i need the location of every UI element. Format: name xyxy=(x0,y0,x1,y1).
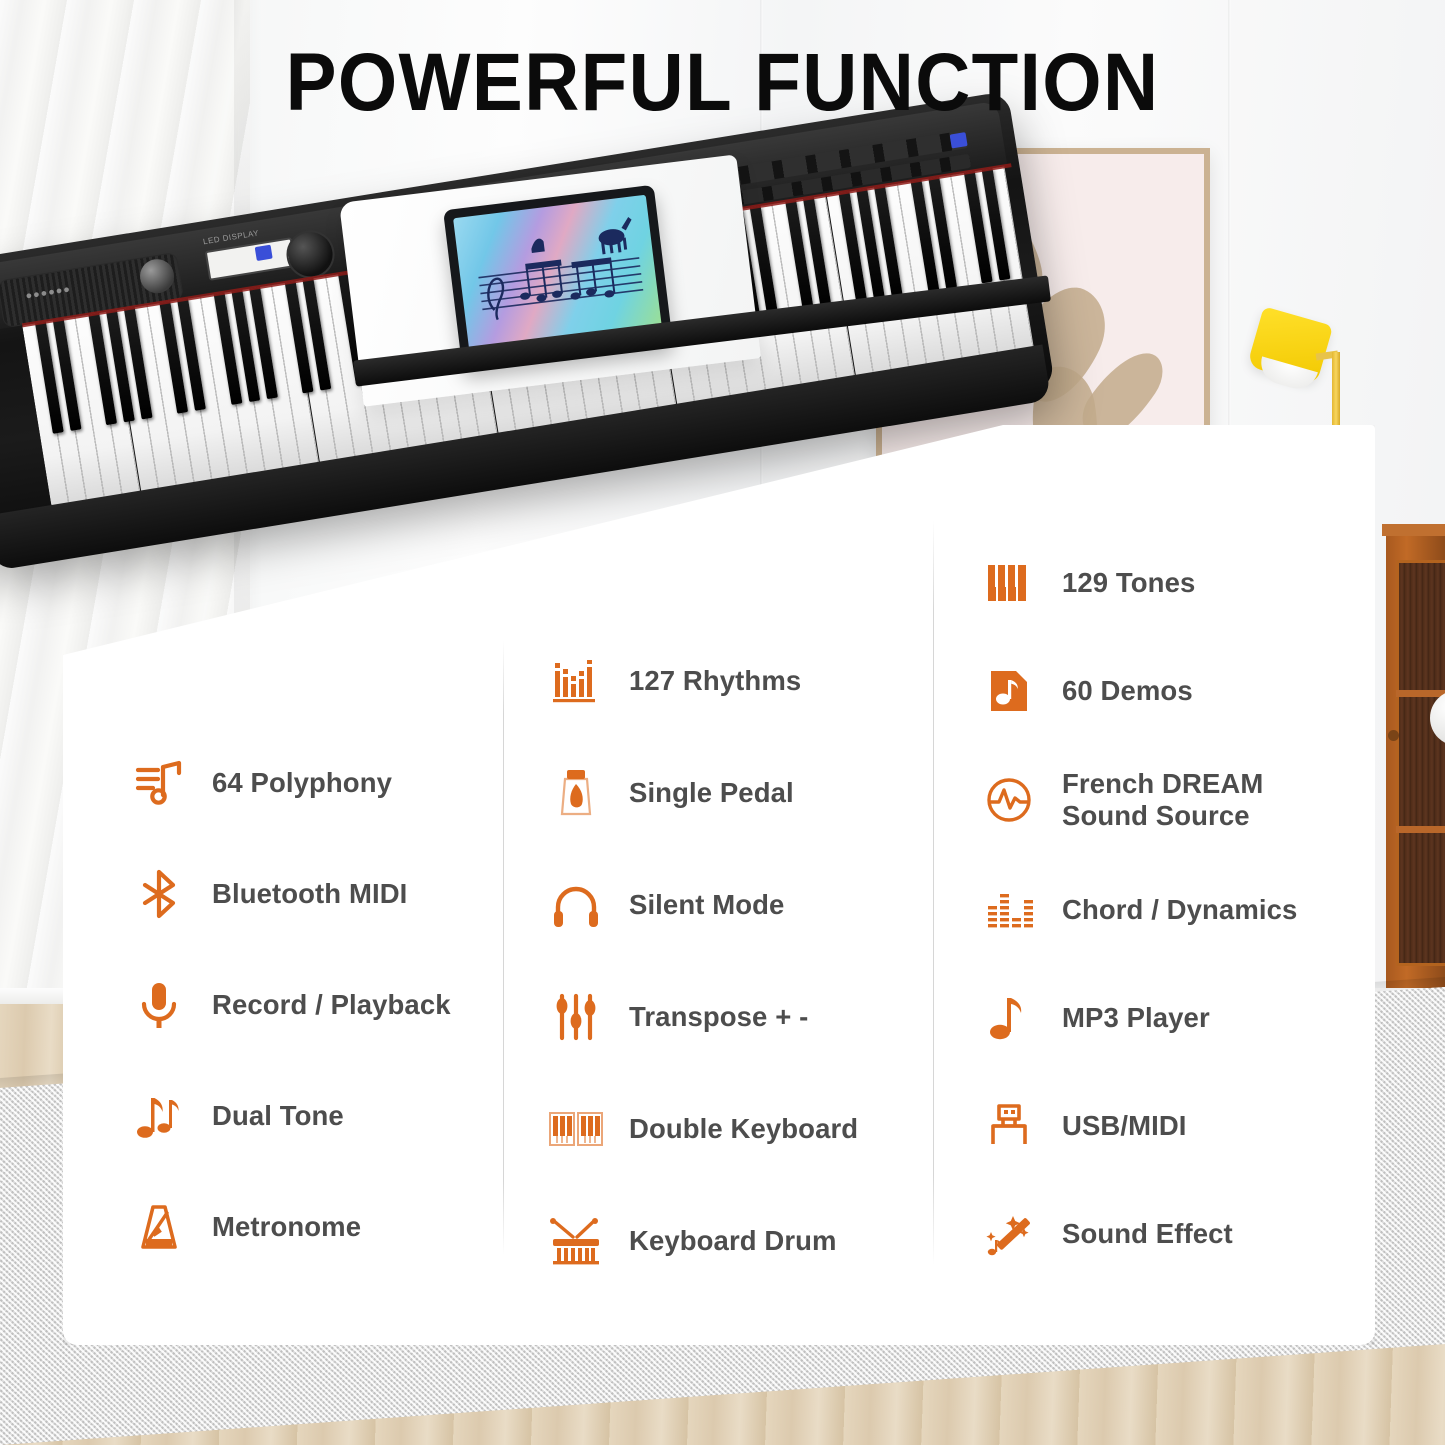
feature-item: 64 Polyphony xyxy=(128,752,498,814)
feature-label: Dual Tone xyxy=(212,1100,344,1132)
sliders-icon xyxy=(545,986,607,1048)
cabinet-glass-door xyxy=(1396,560,1445,966)
feature-column-1: 64 Polyphony Bluetooth MIDI Record / Pla… xyxy=(128,752,498,1307)
equalizer-bars-icon xyxy=(545,650,607,712)
chord-equalizer-icon xyxy=(978,879,1040,941)
feature-item: Single Pedal xyxy=(545,762,935,824)
feature-label: Sound Effect xyxy=(1062,1218,1233,1250)
feature-label: Transpose + - xyxy=(629,1001,808,1033)
metronome-icon xyxy=(128,1196,190,1258)
feature-item: 127 Rhythms xyxy=(545,650,935,712)
feature-item: Sound Effect xyxy=(978,1203,1378,1265)
feature-label: Silent Mode xyxy=(629,889,784,921)
feature-item: Silent Mode xyxy=(545,874,935,936)
headphones-icon xyxy=(545,874,607,936)
feature-item: MP3 Player xyxy=(978,987,1378,1049)
feature-label: Bluetooth MIDI xyxy=(212,878,407,910)
feature-column-3: 129 Tones 60 Demos xyxy=(978,552,1378,1311)
feature-item: Transpose + - xyxy=(545,986,935,1048)
function-button xyxy=(950,132,968,148)
double-note-icon xyxy=(128,1085,190,1147)
cabinet-shelf xyxy=(1396,826,1445,833)
sustain-pedal-icon xyxy=(545,762,607,824)
feature-item: USB/MIDI xyxy=(978,1095,1378,1157)
feature-item: Dual Tone xyxy=(128,1085,498,1147)
feature-label: Record / Playback xyxy=(212,989,451,1021)
page-title: POWERFUL FUNCTION xyxy=(51,36,1395,130)
cabinet-top xyxy=(1382,524,1445,536)
feature-item: 60 Demos xyxy=(978,660,1378,722)
feature-label: 60 Demos xyxy=(1062,675,1193,707)
feature-label: Single Pedal xyxy=(629,777,794,809)
cabinet-shelf xyxy=(1396,690,1445,697)
feature-item: Bluetooth MIDI xyxy=(128,863,498,925)
magic-wand-icon xyxy=(978,1203,1040,1265)
waveform-circle-icon xyxy=(978,769,1040,831)
feature-label: Keyboard Drum xyxy=(629,1225,837,1257)
feature-label: Double Keyboard xyxy=(629,1113,858,1145)
microphone-icon xyxy=(128,974,190,1036)
feature-label: USB/MIDI xyxy=(1062,1110,1187,1142)
feature-item: Keyboard Drum xyxy=(545,1210,935,1272)
column-divider xyxy=(503,640,504,1255)
music-file-icon xyxy=(978,660,1040,722)
feature-label: French DREAM Sound Source xyxy=(1062,768,1263,833)
bluetooth-icon xyxy=(128,863,190,925)
feature-item: Double Keyboard xyxy=(545,1098,935,1160)
feature-label: Metronome xyxy=(212,1211,361,1243)
feature-label: 127 Rhythms xyxy=(629,665,801,697)
piano-keys-icon xyxy=(978,552,1040,614)
usb-plug-icon xyxy=(978,1095,1040,1157)
cabinet-knob xyxy=(1388,730,1399,741)
double-keyboard-icon xyxy=(545,1098,607,1160)
feature-label: 64 Polyphony xyxy=(212,767,392,799)
polyphony-note-icon xyxy=(128,752,190,814)
feature-column-2: 127 Rhythms Single Pedal Silent Mode xyxy=(545,650,935,1322)
scene-root: ●●●●●● LED DISPLAY xyxy=(0,0,1445,1445)
eighth-note-icon xyxy=(978,987,1040,1049)
feature-label: Chord / Dynamics xyxy=(1062,894,1297,926)
feature-item: 129 Tones xyxy=(978,552,1378,614)
feature-item: Metronome xyxy=(128,1196,498,1258)
feature-label: 129 Tones xyxy=(1062,567,1195,599)
feature-item: French DREAM Sound Source xyxy=(978,768,1378,833)
feature-item: Record / Playback xyxy=(128,974,498,1036)
function-button xyxy=(255,245,273,261)
snare-drum-icon xyxy=(545,1210,607,1272)
feature-label: MP3 Player xyxy=(1062,1002,1210,1034)
feature-item: Chord / Dynamics xyxy=(978,879,1378,941)
